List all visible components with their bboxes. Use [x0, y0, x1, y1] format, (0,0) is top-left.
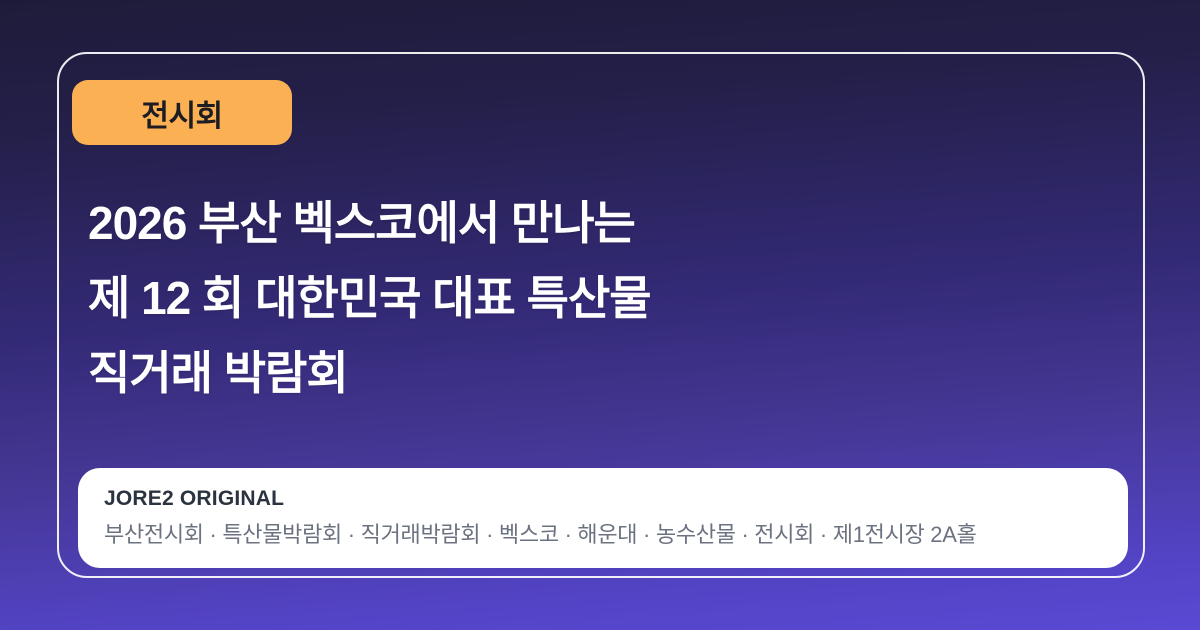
- source-card: JORE2 ORIGINAL 부산전시회 · 특산물박람회 · 직거래박람회 ·…: [78, 468, 1128, 568]
- tag-list: 부산전시회 · 특산물박람회 · 직거래박람회 · 벡스코 · 해운대 · 농수…: [104, 518, 1200, 552]
- category-badge: 전시회: [72, 80, 292, 145]
- brand-label: JORE2 ORIGINAL: [104, 485, 1128, 513]
- page-title: 2026 부산 벡스코에서 만나는 제 12 회 대한민국 대표 특산물 직거래…: [88, 186, 1098, 411]
- og-image-canvas: 전시회 2026 부산 벡스코에서 만나는 제 12 회 대한민국 대표 특산물…: [0, 0, 1200, 630]
- content-stack: 전시회 2026 부산 벡스코에서 만나는 제 12 회 대한민국 대표 특산물…: [0, 0, 1200, 630]
